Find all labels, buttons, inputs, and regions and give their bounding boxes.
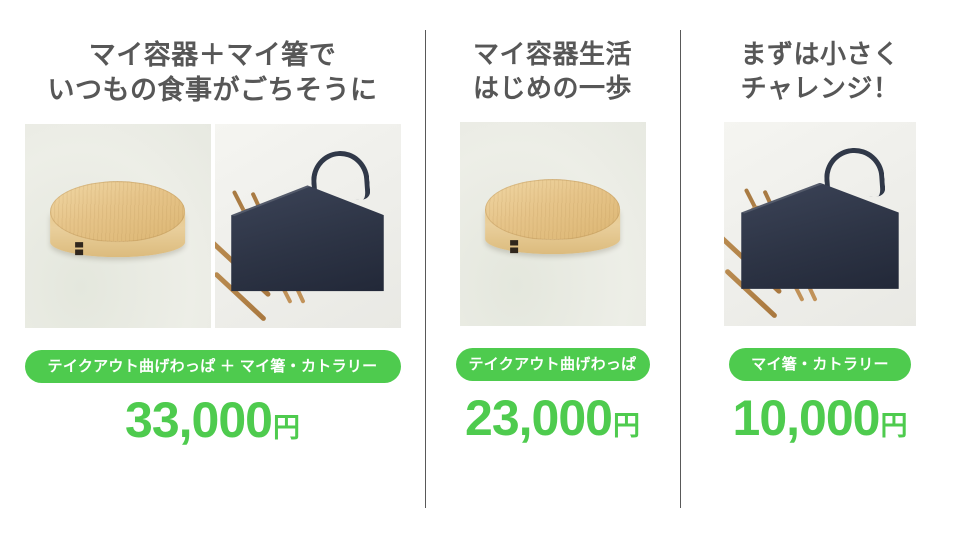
column-2-title: マイ容器生活 はじめの一歩 xyxy=(473,0,632,106)
price-unit: 円 xyxy=(880,413,907,440)
bento-box-illustration xyxy=(50,181,186,271)
pricing-column-1: マイ容器＋マイ箸で いつもの食事がごちそうに xyxy=(0,0,425,540)
column-1-price: 33,000 円 xyxy=(125,395,300,445)
column-divider-1 xyxy=(425,30,426,508)
product-photo-bento-box xyxy=(25,124,211,328)
column-2-product-badge[interactable]: テイクアウト曲げわっぱ xyxy=(456,348,650,381)
product-photo-bento-box xyxy=(460,122,646,326)
bento-box-stamp xyxy=(75,242,83,255)
price-amount: 33,000 xyxy=(125,395,272,445)
price-amount: 23,000 xyxy=(465,393,612,443)
column-divider-2 xyxy=(680,30,681,508)
bento-box-stamp xyxy=(510,240,518,253)
column-1-product-badge[interactable]: テイクアウト曲げわっぱ ＋ マイ箸・カトラリー xyxy=(25,350,401,383)
column-2-price: 23,000 円 xyxy=(465,393,640,443)
product-photo-cutlery-set xyxy=(724,122,916,326)
pricing-board: マイ容器＋マイ箸で いつもの食事がごちそうに xyxy=(0,0,960,540)
column-3-product-badge[interactable]: マイ箸・カトラリー xyxy=(729,348,911,381)
column-1-photos xyxy=(25,124,401,328)
column-1-title: マイ容器＋マイ箸で いつもの食事がごちそうに xyxy=(48,0,378,108)
bento-box-illustration xyxy=(485,179,621,269)
column-3-title: まずは小さく チャレンジ！ xyxy=(740,0,899,106)
column-3-price: 10,000 円 xyxy=(733,393,908,443)
bento-box-lid xyxy=(485,179,621,240)
price-unit: 円 xyxy=(613,413,640,440)
column-2-photos xyxy=(460,122,646,326)
pricing-column-3: まずは小さく チャレンジ！ マイ箸・カトラリー 10,000 円 xyxy=(680,0,960,540)
price-amount: 10,000 xyxy=(733,393,880,443)
bento-box-lid xyxy=(50,181,186,242)
pricing-column-2: マイ容器生活 はじめの一歩 テイクアウト曲げわっぱ 23,000 円 xyxy=(425,0,680,540)
column-3-photos xyxy=(724,122,916,326)
product-photo-cutlery-set xyxy=(215,124,401,328)
price-unit: 円 xyxy=(273,415,300,442)
